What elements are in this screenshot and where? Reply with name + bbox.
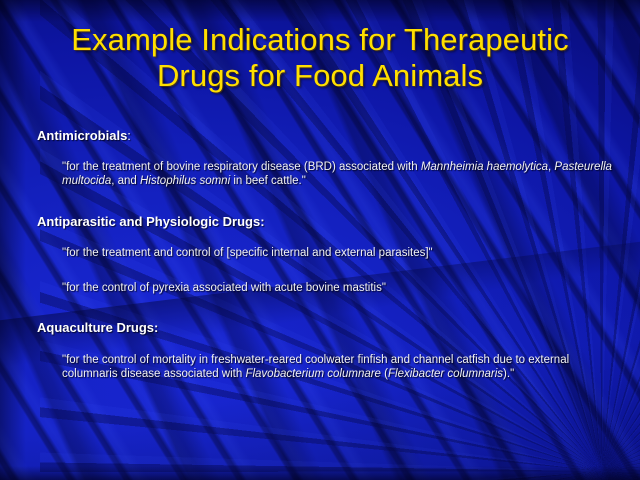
spacer [37, 295, 618, 320]
quote-part: "for the treatment of bovine respiratory… [62, 161, 421, 173]
quote-part-italic: Histophilus somni [140, 175, 230, 187]
slide-body: Antimicrobials: "for the treatment of bo… [37, 128, 618, 381]
quote-part: "for the control of pyrexia associated w… [62, 282, 386, 294]
slide-title-line-2: Drugs for Food Animals [0, 58, 640, 94]
section-heading-antiparasitic-physiologic: Antiparasitic and Physiologic Drugs: [37, 214, 618, 230]
quote-part-italic: Mannheimia haemolytica [421, 161, 548, 173]
spacer [37, 261, 618, 282]
slide-content: Example Indications for Therapeutic Drug… [0, 0, 640, 480]
spacer [37, 336, 618, 354]
quote-text: "for the treatment of bovine respiratory… [62, 161, 618, 188]
quote-part: , and [111, 175, 140, 187]
quote-block-antiparasitic-2: "for the control of pyrexia associated w… [37, 282, 618, 296]
section-heading-text: Aquaculture Drugs [37, 320, 154, 335]
quote-part: in beef cattle." [230, 175, 306, 187]
quote-part: )." [503, 368, 514, 380]
section-heading-colon: : [260, 214, 264, 229]
section-heading-text: Antimicrobials [37, 128, 127, 143]
section-heading-aquaculture: Aquaculture Drugs: [37, 320, 618, 336]
spacer [37, 144, 618, 161]
quote-text: "for the control of mortality in freshwa… [62, 354, 618, 381]
quote-block-aquaculture: "for the control of mortality in freshwa… [37, 354, 618, 381]
presentation-slide: Example Indications for Therapeutic Drug… [0, 0, 640, 480]
slide-title: Example Indications for Therapeutic Drug… [0, 22, 640, 94]
section-heading-antimicrobials: Antimicrobials: [37, 128, 618, 144]
section-aquaculture: Aquaculture Drugs: "for the control of m… [37, 320, 618, 381]
section-heading-colon: : [127, 128, 131, 143]
section-antimicrobials: Antimicrobials: "for the treatment of bo… [37, 128, 618, 188]
quote-text: "for the treatment and control of [speci… [62, 247, 618, 261]
spacer [37, 230, 618, 247]
section-heading-colon: : [154, 320, 158, 335]
quote-part-italic: Flexibacter columnaris [388, 368, 503, 380]
quote-part-italic: Flavobacterium columnare [245, 368, 381, 380]
quote-part: "for the treatment and control of [speci… [62, 247, 433, 259]
quote-part: ( [381, 368, 388, 380]
spacer [37, 188, 618, 214]
section-heading-text: Antiparasitic and Physiologic Drugs [37, 214, 260, 229]
quote-text: "for the control of pyrexia associated w… [62, 282, 618, 296]
slide-title-line-1: Example Indications for Therapeutic [0, 22, 640, 58]
section-antiparasitic-physiologic: Antiparasitic and Physiologic Drugs: "fo… [37, 214, 618, 295]
quote-block-antiparasitic-1: "for the treatment and control of [speci… [37, 247, 618, 261]
quote-block-antimicrobials: "for the treatment of bovine respiratory… [37, 161, 618, 188]
